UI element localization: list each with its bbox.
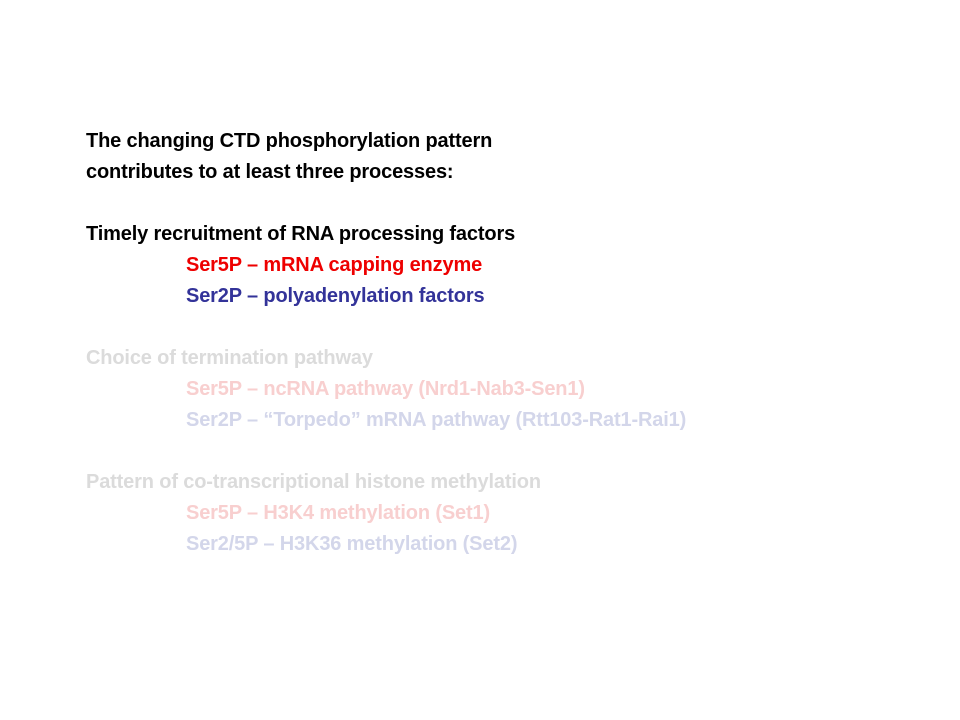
text-line: Ser2P – polyadenylation factors xyxy=(86,281,906,312)
text-line: Ser2P – “Torpedo” mRNA pathway (Rtt103-R… xyxy=(86,405,906,436)
text-line: Pattern of co-transcriptional histone me… xyxy=(86,467,906,498)
text-block-process-2-termination: Choice of termination pathwaySer5P – ncR… xyxy=(86,343,906,436)
slide-text-body: The changing CTD phosphorylation pattern… xyxy=(86,126,906,560)
text-line: contributes to at least three processes: xyxy=(86,157,906,188)
slide-canvas: The changing CTD phosphorylation pattern… xyxy=(0,0,960,720)
text-block-intro: The changing CTD phosphorylation pattern… xyxy=(86,126,906,188)
block-spacer xyxy=(86,436,906,467)
text-line: Ser2/5P – H3K36 methylation (Set2) xyxy=(86,529,906,560)
text-block-process-1-recruitment: Timely recruitment of RNA processing fac… xyxy=(86,219,906,312)
text-line: The changing CTD phosphorylation pattern xyxy=(86,126,906,157)
text-line: Timely recruitment of RNA processing fac… xyxy=(86,219,906,250)
text-line: Choice of termination pathway xyxy=(86,343,906,374)
text-line: Ser5P – H3K4 methylation (Set1) xyxy=(86,498,906,529)
text-line: Ser5P – ncRNA pathway (Nrd1-Nab3-Sen1) xyxy=(86,374,906,405)
text-block-process-3-methylation: Pattern of co-transcriptional histone me… xyxy=(86,467,906,560)
text-line: Ser5P – mRNA capping enzyme xyxy=(86,250,906,281)
block-spacer xyxy=(86,188,906,219)
block-spacer xyxy=(86,312,906,343)
